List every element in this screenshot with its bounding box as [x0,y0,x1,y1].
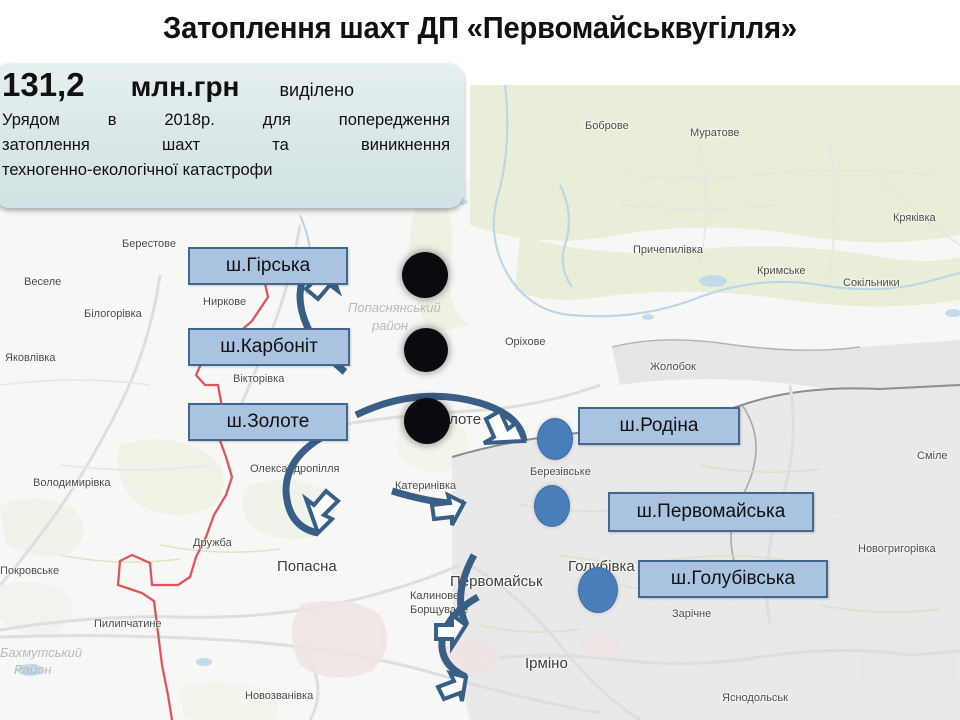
map-place-label: Яковлівка [5,352,55,364]
map-place-label: Сміле [917,450,948,462]
marker-zolote[interactable] [404,398,450,444]
mine-label-text: ш.Родіна [620,415,699,437]
map-place-label: район [372,318,408,333]
map-place-label: Калинове- [410,590,463,602]
marker-pervomaiska[interactable] [534,485,570,527]
map-place-label: Покровське [0,565,59,577]
map-place-label: Вікторівка [233,373,284,385]
mine-label-text: ш.Первомайська [637,501,786,523]
callout-unit: млн.грн [131,72,240,101]
map-place-label: Попаснянський [348,300,441,315]
funding-callout: 131,2 млн.грн виділено Урядом в 2018р. д… [0,62,464,208]
mine-label-text: ш.Гірська [226,255,310,277]
mine-label-text: ш.Карбоніт [220,336,318,358]
marker-hirska[interactable] [402,252,448,298]
map-place-label: Боброве [585,120,629,132]
callout-headline: 131,2 млн.грн виділено [2,68,450,103]
mine-label-pervomaiska[interactable]: ш.Первомайська [608,492,814,532]
map-place-label: Ірміно [525,655,568,672]
map-place-label: Жолобок [650,361,696,373]
mine-label-karbonit[interactable]: ш.Карбоніт [188,328,350,366]
map-place-label: Оріхове [505,336,545,348]
map-place-label: Володимирівка [33,477,110,489]
map-place-label: Білогорівка [84,308,142,320]
map-place-label: Муратове [690,127,740,139]
marker-holubivska[interactable] [578,567,618,613]
map-place-label: Ниркове [203,296,246,308]
marker-rodina[interactable] [537,418,573,460]
map-place-label: Первомайськ [450,573,543,590]
mine-label-text: ш.Золоте [227,411,310,433]
map-place-label: Кримське [757,265,806,277]
callout-line-4: техногенно-екологічної катастрофи [2,158,450,183]
map-place-label: Берестове [122,238,176,250]
callout-body: Урядом в 2018р. для попередження затопле… [2,108,450,183]
slide-root: Затоплення шахт ДП «Первомайськвугілля» [0,0,960,720]
callout-allocated-word: виділено [279,81,354,100]
map-place-label: Новозванівка [245,690,313,702]
map-place-label: Попасна [277,558,337,575]
callout-amount: 131,2 [2,68,85,103]
map-place-label: Олександропілля [250,463,339,475]
map-place-label: Яснодольськ [722,692,788,704]
map-place-label: Новогригорівка [858,543,936,555]
map-place-label: Веселе [24,276,61,288]
mine-label-zolote[interactable]: ш.Золоте [188,403,348,441]
page-title: Затоплення шахт ДП «Первомайськвугілля» [29,10,931,46]
mine-label-rodina[interactable]: ш.Родіна [578,407,740,445]
marker-karbonit[interactable] [404,328,448,372]
map-place-label: Кряківка [893,212,936,224]
map-place-label: Катеринівка [395,480,456,492]
callout-line-3: затоплення шахт та виникнення [2,133,450,158]
map-place-label: Зарічне [672,608,711,620]
map-place-label: Борщуване [410,604,468,616]
mine-label-hirska[interactable]: ш.Гірська [188,247,348,285]
map-place-label: Пилипчатине [94,618,162,630]
map-place-label: Сокільники [843,277,900,289]
map-place-label: Бахмутський [0,645,82,660]
callout-line-2: Урядом в 2018р. для попередження [2,108,450,133]
map-place-label: Дружба [193,537,232,549]
map-place-label: Причепилівка [633,244,703,256]
map-place-label: Березівське [530,466,591,478]
map-place-label: Район [14,662,52,677]
mine-label-text: ш.Голубівська [671,568,795,590]
mine-label-holubivska[interactable]: ш.Голубівська [638,560,828,598]
